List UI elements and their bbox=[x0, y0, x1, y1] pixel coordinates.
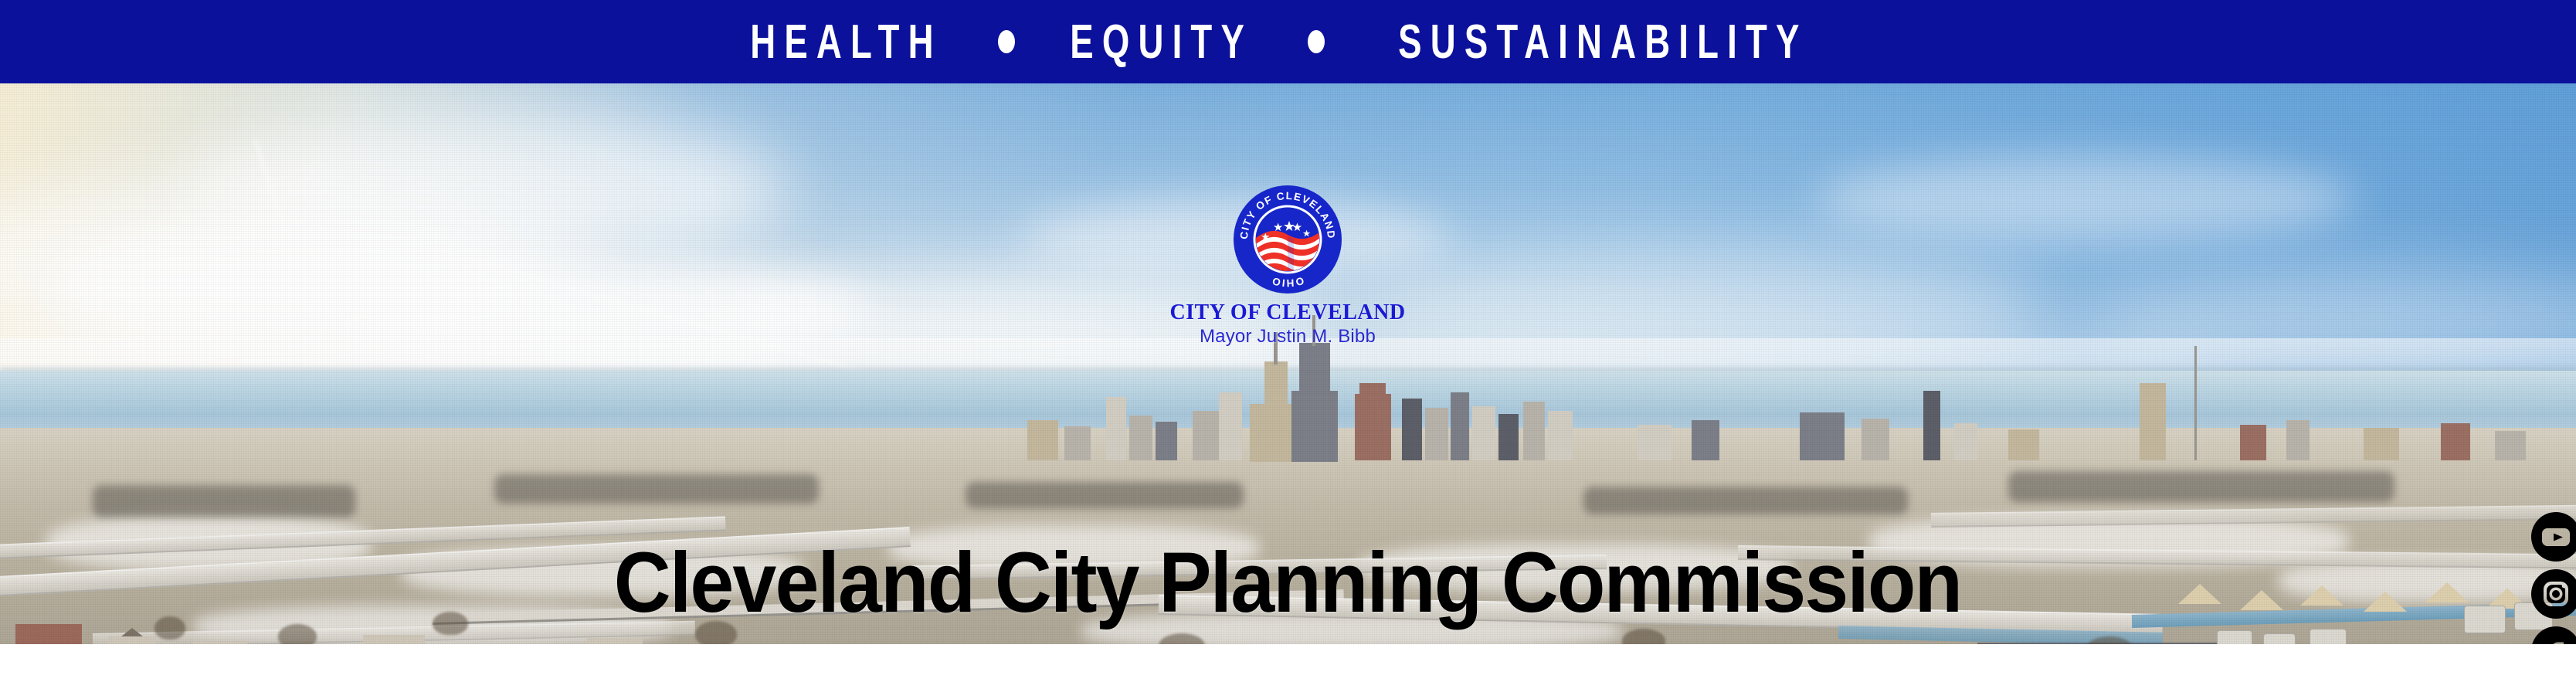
social-links bbox=[2531, 512, 2576, 644]
mayor-name-label: Mayor Justin M. Bibb bbox=[1087, 326, 1488, 348]
instagram-icon[interactable] bbox=[2531, 569, 2576, 619]
bottom-white-strip bbox=[0, 644, 2576, 682]
banner-separator-dot-1 bbox=[998, 30, 1015, 53]
city-of-cleveland-seal-icon: CITY OF CLEVELAND OHIO bbox=[1230, 182, 1345, 297]
city-logo-block: CITY OF CLEVELAND OHIO CITY OF CLEVELAND… bbox=[1087, 182, 1488, 348]
youtube-icon[interactable] bbox=[2531, 512, 2576, 562]
page-root: HEALTH EQUITY SUSTAINABILITY bbox=[0, 0, 2576, 682]
banner-slogan: HEALTH EQUITY SUSTAINABILITY bbox=[735, 22, 1841, 63]
city-name-label: CITY OF CLEVELAND bbox=[1087, 301, 1488, 324]
banner-separator-dot-2 bbox=[1308, 30, 1325, 53]
banner-word-health: HEALTH bbox=[750, 18, 942, 66]
hero-photo-region: CITY OF CLEVELAND OHIO CITY OF CLEVELAND… bbox=[0, 83, 2576, 644]
banner-word-equity: EQUITY bbox=[1070, 18, 1253, 66]
top-banner: HEALTH EQUITY SUSTAINABILITY bbox=[0, 0, 2576, 83]
banner-word-sustainability: SUSTAINABILITY bbox=[1398, 18, 1807, 66]
facebook-icon[interactable] bbox=[2531, 626, 2576, 644]
page-title: Cleveland City Planning Commission bbox=[614, 541, 1961, 626]
